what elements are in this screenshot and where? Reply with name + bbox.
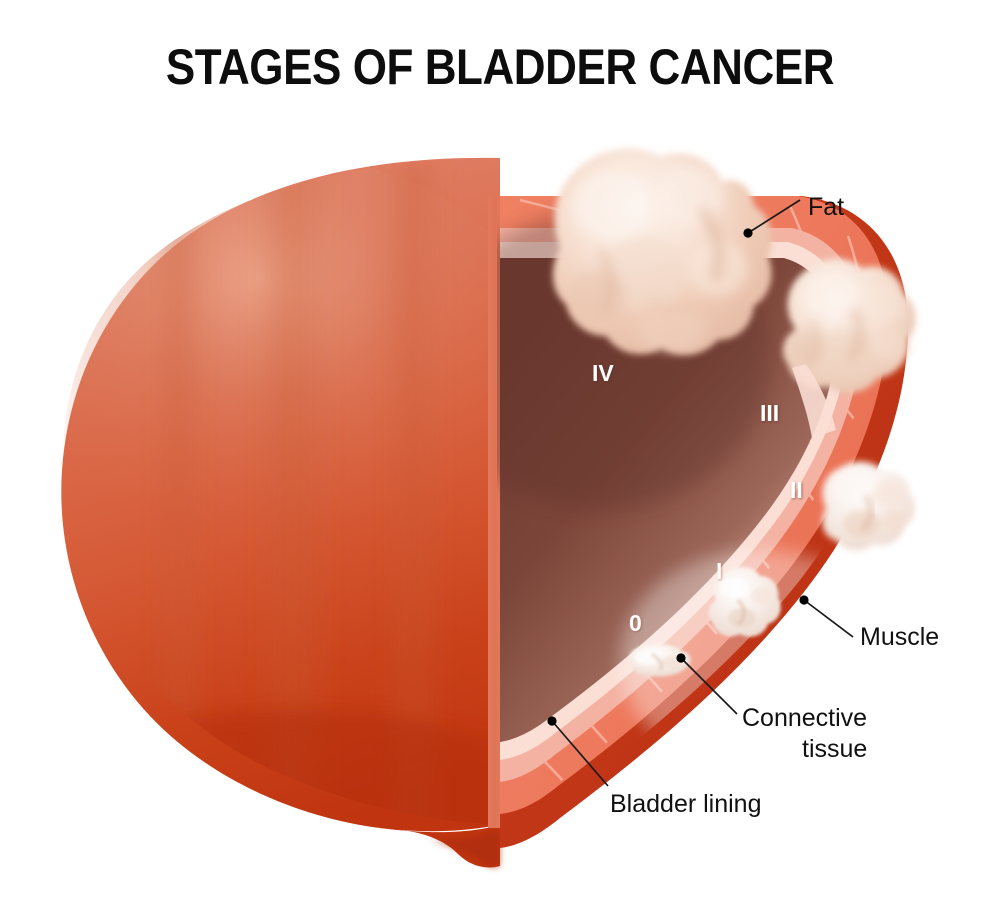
label-fat: Fat xyxy=(808,192,844,223)
stage-numeral-0: 0 xyxy=(629,610,642,637)
stage-numeral-1: I xyxy=(716,558,722,585)
leader-line-muscle xyxy=(804,600,853,637)
stage-numeral-4: IV xyxy=(592,360,614,387)
label-connective-tissue-line2: tissue xyxy=(802,734,867,765)
tumor-stage-4 xyxy=(553,148,772,355)
label-muscle: Muscle xyxy=(860,622,939,653)
tumor-stage-2 xyxy=(822,462,914,551)
leader-dot-fat xyxy=(743,228,752,237)
stage-numeral-2: II xyxy=(790,477,803,504)
leader-dot-connective-tissue xyxy=(676,653,685,662)
label-connective-tissue-line1: Connective xyxy=(742,703,867,734)
illustration-canvas: STAGES OF BLADDER CANCER xyxy=(0,0,1000,897)
label-bladder-lining: Bladder lining xyxy=(610,789,762,820)
stage-numeral-3: III xyxy=(760,400,779,427)
leader-dot-bladder-lining xyxy=(547,716,556,725)
leader-dot-muscle xyxy=(799,595,808,604)
